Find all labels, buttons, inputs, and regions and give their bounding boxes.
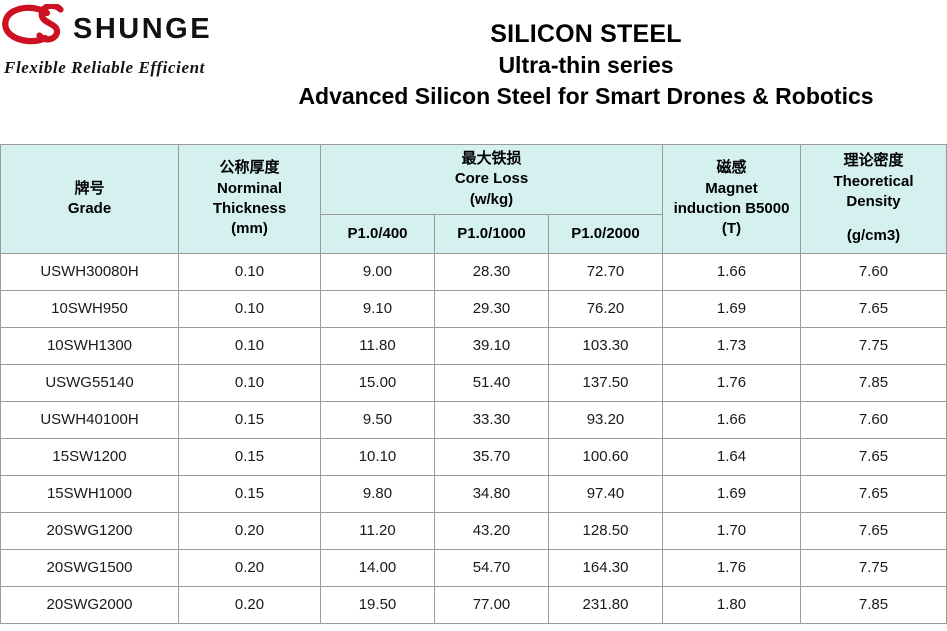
cell-grade: USWH30080H [1,253,179,290]
cell-grade: 10SWH1300 [1,327,179,364]
cell-p1-0-1000: 34.80 [435,475,549,512]
column-header-density-en2: Density [804,192,943,212]
cell-p1-0-1000: 39.10 [435,327,549,364]
cell-magnet-induction: 1.70 [663,512,801,549]
column-header-magnet-unit: (T) [666,219,797,239]
column-header-core-loss: 最大铁损 Core Loss (w/kg) [321,145,663,215]
column-header-thickness-en2: Thickness [182,199,317,219]
cell-p1-0-2000: 97.40 [549,475,663,512]
header-row-primary: 牌号 Grade 公称厚度 Norminal Thickness (mm) 最大… [1,145,947,215]
cell-p1-0-1000: 54.70 [435,549,549,586]
cell-density: 7.85 [801,364,947,401]
page-subtitle: Ultra-thin series [225,50,947,81]
cell-p1-0-1000: 35.70 [435,438,549,475]
cell-thickness: 0.10 [179,290,321,327]
column-header-thickness: 公称厚度 Norminal Thickness (mm) [179,145,321,254]
cell-magnet-induction: 1.80 [663,586,801,623]
company-branding: SHUNGE Flexible Reliable Efficient [0,4,225,82]
table-row: 20SWG15000.2014.0054.70164.301.767.75 [1,549,947,586]
cell-magnet-induction: 1.66 [663,401,801,438]
column-header-theoretical-density: 理论密度 Theoretical Density (g/cm3) [801,145,947,254]
column-header-p1-0-400: P1.0/400 [321,214,435,253]
cell-p1-0-1000: 43.20 [435,512,549,549]
cell-grade: USWG55140 [1,364,179,401]
cell-density: 7.75 [801,549,947,586]
table-row: 10SWH9500.109.1029.3076.201.697.65 [1,290,947,327]
cell-p1-0-400: 9.50 [321,401,435,438]
column-header-thickness-en: Norminal [182,179,317,199]
page-header: SHUNGE Flexible Reliable Efficient SILIC… [0,0,947,144]
table-row: 15SW12000.1510.1035.70100.601.647.65 [1,438,947,475]
cell-density: 7.60 [801,253,947,290]
cell-p1-0-2000: 76.20 [549,290,663,327]
column-header-p1-0-2000: P1.0/2000 [549,214,663,253]
cell-thickness: 0.20 [179,549,321,586]
table-row: USWH40100H0.159.5033.3093.201.667.60 [1,401,947,438]
cell-p1-0-400: 14.00 [321,549,435,586]
cell-thickness: 0.15 [179,401,321,438]
specification-table: 牌号 Grade 公称厚度 Norminal Thickness (mm) 最大… [0,144,947,624]
cell-magnet-induction: 1.76 [663,549,801,586]
column-header-core-loss-en: Core Loss [324,169,659,189]
cell-p1-0-2000: 137.50 [549,364,663,401]
cell-p1-0-400: 11.80 [321,327,435,364]
cell-magnet-induction: 1.64 [663,438,801,475]
table-row: 10SWH13000.1011.8039.10103.301.737.75 [1,327,947,364]
cell-p1-0-2000: 103.30 [549,327,663,364]
column-header-p1-0-1000: P1.0/1000 [435,214,549,253]
brand-row: SHUNGE [0,4,225,54]
page-subtitle-secondary: Advanced Silicon Steel for Smart Drones … [225,81,947,112]
cell-p1-0-2000: 231.80 [549,586,663,623]
table-body: USWH30080H0.109.0028.3072.701.667.6010SW… [1,253,947,623]
cell-p1-0-1000: 28.30 [435,253,549,290]
cell-p1-0-1000: 51.40 [435,364,549,401]
table-row: 15SWH10000.159.8034.8097.401.697.65 [1,475,947,512]
column-header-magnet-en: Magnet [666,179,797,199]
column-header-thickness-cn: 公称厚度 [182,158,317,178]
cell-p1-0-400: 10.10 [321,438,435,475]
cell-grade: 20SWG1200 [1,512,179,549]
cell-thickness: 0.10 [179,364,321,401]
cell-grade: 20SWG2000 [1,586,179,623]
shunge-s-swoosh-logo-icon [0,4,72,54]
cell-p1-0-1000: 77.00 [435,586,549,623]
cell-magnet-induction: 1.69 [663,475,801,512]
column-header-core-loss-cn: 最大铁损 [324,149,659,169]
cell-p1-0-1000: 33.30 [435,401,549,438]
cell-thickness: 0.20 [179,586,321,623]
cell-density: 7.65 [801,475,947,512]
cell-thickness: 0.15 [179,475,321,512]
column-header-magnet-en2: induction B5000 [666,199,797,219]
company-tagline: Flexible Reliable Efficient [4,58,225,78]
table-row: 20SWG20000.2019.5077.00231.801.807.85 [1,586,947,623]
column-header-thickness-unit: (mm) [182,219,317,239]
page-title: SILICON STEEL [225,18,947,50]
cell-thickness: 0.20 [179,512,321,549]
cell-grade: 10SWH950 [1,290,179,327]
cell-magnet-induction: 1.76 [663,364,801,401]
column-header-magnet-induction: 磁感 Magnet induction B5000 (T) [663,145,801,254]
cell-grade: USWH40100H [1,401,179,438]
column-header-density-en: Theoretical [804,172,943,192]
column-header-magnet-cn: 磁感 [666,158,797,178]
cell-grade: 15SW1200 [1,438,179,475]
cell-p1-0-2000: 128.50 [549,512,663,549]
cell-density: 7.65 [801,512,947,549]
table-header: 牌号 Grade 公称厚度 Norminal Thickness (mm) 最大… [1,145,947,254]
cell-density: 7.60 [801,401,947,438]
cell-p1-0-400: 9.10 [321,290,435,327]
cell-thickness: 0.15 [179,438,321,475]
table-row: USWG551400.1015.0051.40137.501.767.85 [1,364,947,401]
cell-thickness: 0.10 [179,327,321,364]
cell-p1-0-1000: 29.30 [435,290,549,327]
cell-grade: 20SWG1500 [1,549,179,586]
cell-thickness: 0.10 [179,253,321,290]
page-titles: SILICON STEEL Ultra-thin series Advanced… [225,18,947,112]
cell-p1-0-400: 9.80 [321,475,435,512]
cell-density: 7.65 [801,438,947,475]
cell-p1-0-400: 15.00 [321,364,435,401]
cell-p1-0-2000: 164.30 [549,549,663,586]
cell-magnet-induction: 1.69 [663,290,801,327]
table-row: 20SWG12000.2011.2043.20128.501.707.65 [1,512,947,549]
cell-density: 7.85 [801,586,947,623]
column-header-density-cn: 理论密度 [804,151,943,171]
column-header-core-loss-unit: (w/kg) [324,190,659,210]
cell-density: 7.65 [801,290,947,327]
cell-p1-0-2000: 93.20 [549,401,663,438]
datasheet-page: SHUNGE Flexible Reliable Efficient SILIC… [0,0,947,631]
cell-p1-0-2000: 72.70 [549,253,663,290]
cell-magnet-induction: 1.66 [663,253,801,290]
cell-p1-0-400: 9.00 [321,253,435,290]
company-name: SHUNGE [73,15,212,44]
column-header-grade-en: Grade [4,199,175,219]
column-header-grade-cn: 牌号 [4,179,175,199]
cell-grade: 15SWH1000 [1,475,179,512]
column-header-grade: 牌号 Grade [1,145,179,254]
cell-p1-0-400: 19.50 [321,586,435,623]
cell-density: 7.75 [801,327,947,364]
cell-p1-0-400: 11.20 [321,512,435,549]
cell-p1-0-2000: 100.60 [549,438,663,475]
cell-magnet-induction: 1.73 [663,327,801,364]
table-row: USWH30080H0.109.0028.3072.701.667.60 [1,253,947,290]
column-header-density-unit: (g/cm3) [804,226,943,246]
